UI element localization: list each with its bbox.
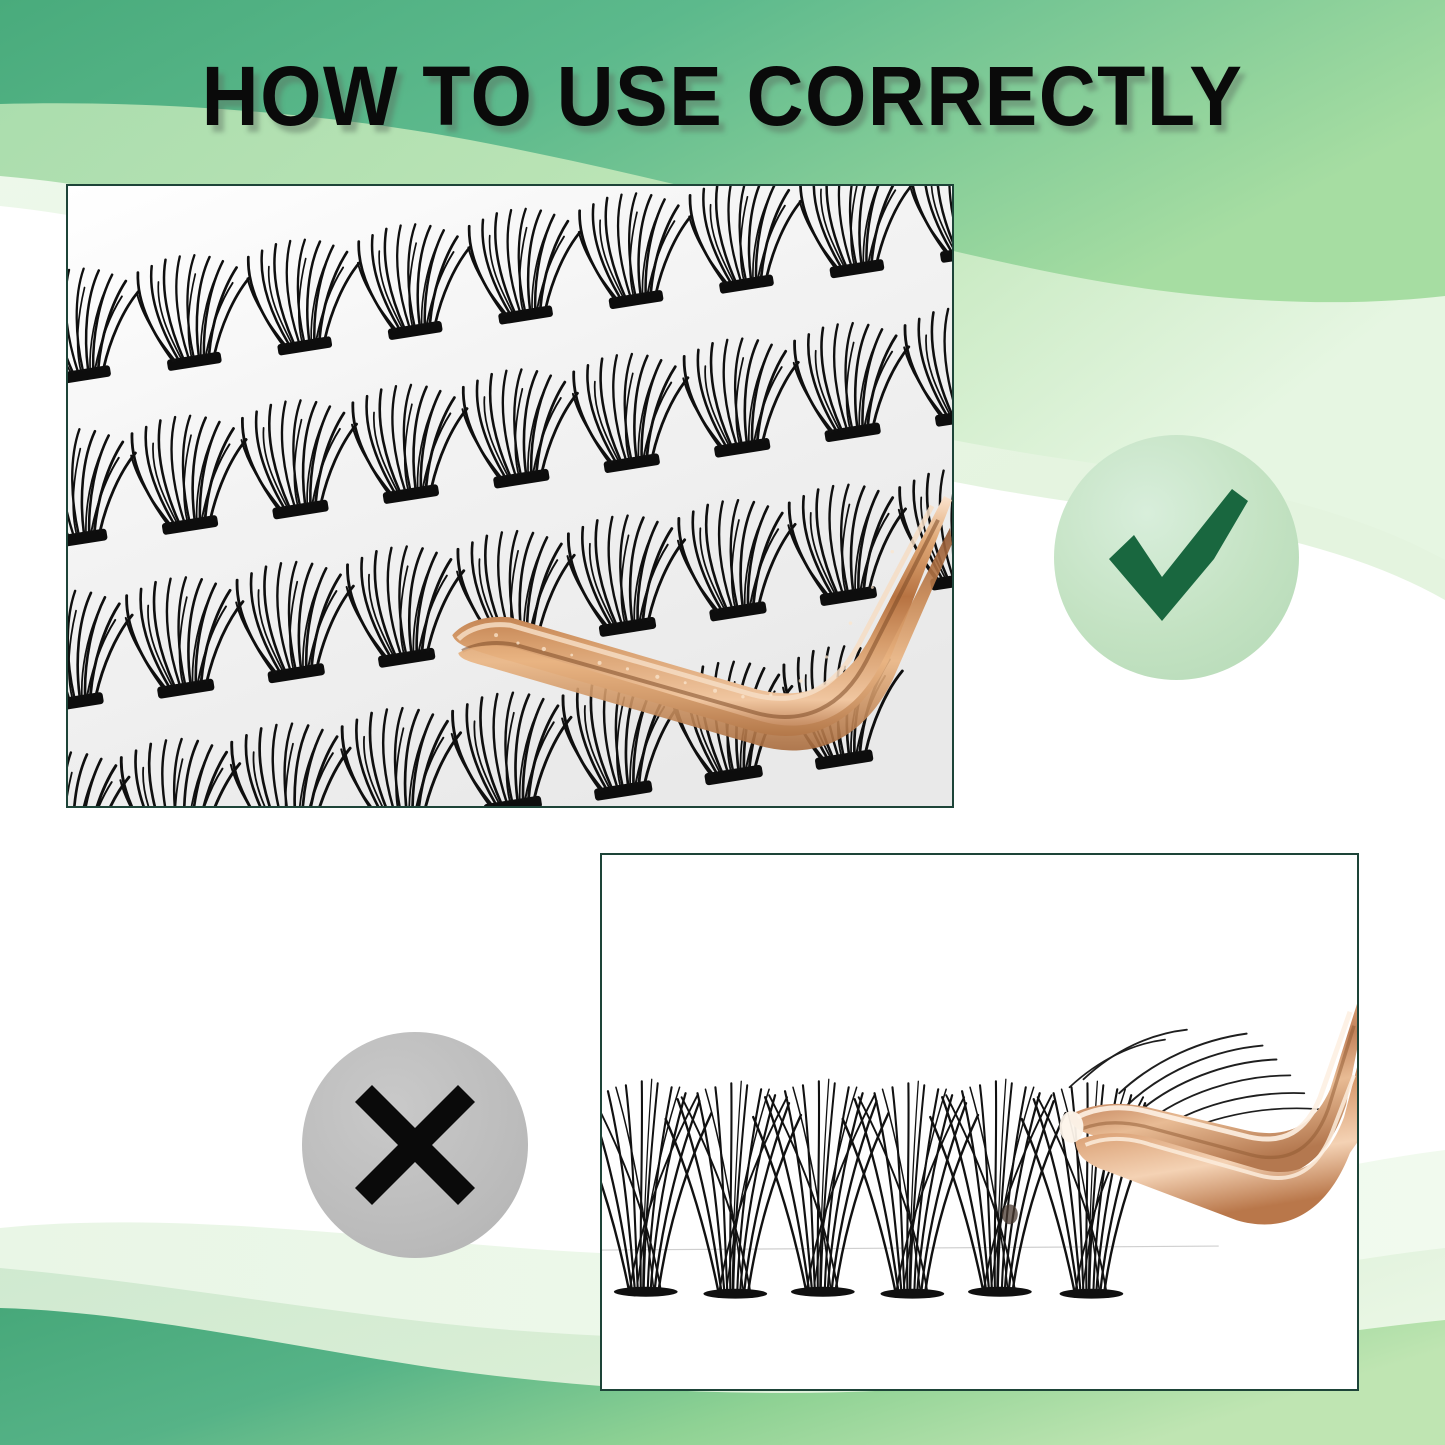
photo-incorrect	[600, 853, 1359, 1391]
close-icon	[351, 1081, 479, 1209]
page-title: HOW TO USE CORRECTLY	[43, 52, 1401, 140]
photo-incorrect-image	[602, 855, 1357, 1389]
photo-correct	[66, 184, 954, 808]
cross-mark-badge	[302, 1032, 528, 1258]
check-mark-badge	[1054, 435, 1299, 680]
check-icon	[1092, 473, 1262, 643]
photo-correct-image	[68, 186, 952, 806]
infographic-canvas: HOW TO USE CORRECTLY	[0, 0, 1445, 1445]
